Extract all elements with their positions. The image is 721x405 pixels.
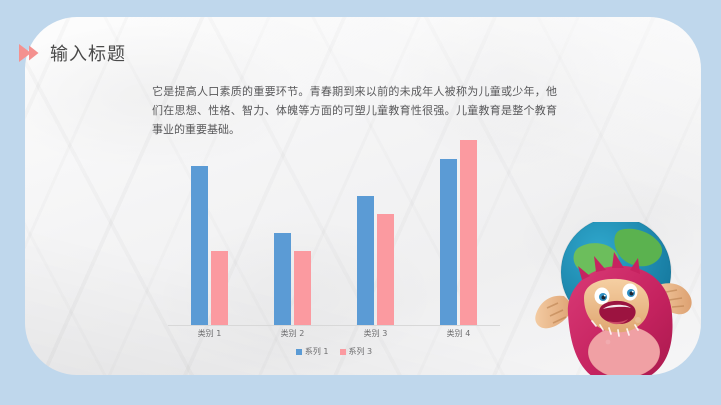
monster-with-globe-illustration	[520, 222, 701, 375]
chart-group	[440, 140, 477, 325]
page-title: 输入标题	[50, 40, 126, 66]
chart-category-label: 类别 1	[198, 328, 222, 339]
legend-swatch-icon	[340, 349, 346, 355]
chart-bar	[211, 251, 228, 325]
legend-swatch-icon	[296, 349, 302, 355]
chart-group	[357, 140, 394, 325]
chart-bar	[440, 159, 457, 326]
slide-canvas: 输入标题 它是提高人口素质的重要环节。青春期到来以前的未成年人被称为儿童或少年，…	[0, 0, 721, 405]
chart-bar	[357, 196, 374, 326]
legend-label: 系列 3	[349, 346, 373, 357]
slide-title-row: 输入标题	[14, 38, 126, 68]
bar-chart: 类别 1类别 2类别 3类别 4 系列 1系列 3	[168, 140, 500, 364]
chart-bar	[191, 166, 208, 325]
chart-group	[191, 140, 228, 325]
body-paragraph: 它是提高人口素质的重要环节。青春期到来以前的未成年人被称为儿童或少年，他们在思想…	[152, 82, 557, 139]
chart-bar	[274, 233, 291, 326]
chart-legend: 系列 1系列 3	[168, 346, 500, 357]
chart-bar	[460, 140, 477, 325]
chevron-right-icon	[14, 39, 42, 67]
chart-bar	[377, 214, 394, 325]
chart-baseline-axis	[168, 325, 500, 326]
chart-group	[274, 140, 311, 325]
legend-item[interactable]: 系列 3	[340, 346, 373, 357]
chart-plot-area	[168, 140, 500, 326]
chart-category-label: 类别 2	[281, 328, 305, 339]
chart-bar	[294, 251, 311, 325]
chart-category-label: 类别 3	[364, 328, 388, 339]
chart-category-labels: 类别 1类别 2类别 3类别 4	[168, 328, 500, 342]
legend-label: 系列 1	[305, 346, 329, 357]
chart-category-label: 类别 4	[447, 328, 471, 339]
legend-item[interactable]: 系列 1	[296, 346, 329, 357]
